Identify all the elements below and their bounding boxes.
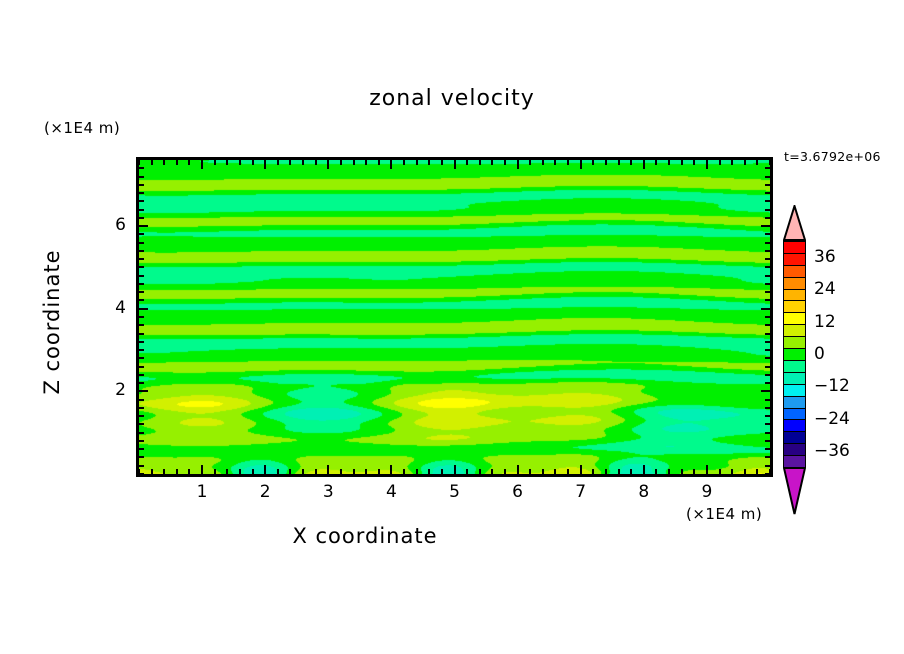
x-axis-tick <box>327 160 329 169</box>
x-axis-tick <box>226 469 228 474</box>
y-axis-tick <box>139 341 144 343</box>
y-axis-tick <box>139 217 144 219</box>
y-axis-tick <box>139 308 148 310</box>
x-axis-tick <box>416 160 418 165</box>
y-axis-tick <box>139 192 144 194</box>
x-axis-ticklabel: 2 <box>245 482 285 502</box>
x-axis-ticklabel: 6 <box>498 482 538 502</box>
x-axis-tick <box>681 160 683 165</box>
y-axis-tick <box>765 465 770 467</box>
x-axis-tick <box>239 469 241 474</box>
x-axis-tick <box>201 160 203 169</box>
y-axis-tick <box>765 242 770 244</box>
x-axis-tick <box>378 469 380 474</box>
y-axis-tick <box>761 390 770 392</box>
x-axis-tick <box>188 469 190 474</box>
y-axis-tick <box>765 407 770 409</box>
y-axis-tick <box>765 374 770 376</box>
x-axis-tick <box>479 469 481 474</box>
y-axis-tick <box>765 167 770 169</box>
y-axis-tick <box>139 258 144 260</box>
x-axis-title: X coordinate <box>0 524 730 548</box>
x-axis-tick <box>340 469 342 474</box>
y-axis-tick <box>139 242 144 244</box>
x-axis-tick <box>756 469 758 474</box>
x-axis-tick <box>668 160 670 165</box>
y-axis-tick <box>139 324 144 326</box>
y-axis-tick <box>765 217 770 219</box>
y-axis-tick <box>765 192 770 194</box>
colorbar-ticklabel: −36 <box>814 441 850 461</box>
colorbar[interactable] <box>783 241 806 467</box>
x-axis-tick <box>529 160 531 165</box>
y-axis-tick <box>765 432 770 434</box>
x-axis-tick <box>454 160 456 169</box>
y-axis-tick <box>765 209 770 211</box>
y-axis-tick <box>761 225 770 227</box>
x-axis-tick <box>706 465 708 474</box>
y-axis-tick <box>765 299 770 301</box>
x-axis-tick <box>504 469 506 474</box>
colorbar-ticklabel: 0 <box>814 344 825 364</box>
x-axis-tick <box>681 469 683 474</box>
y-axis-tick <box>761 308 770 310</box>
x-axis-tick <box>201 465 203 474</box>
x-axis-ticklabel: 4 <box>371 482 411 502</box>
x-axis-tick <box>655 469 657 474</box>
x-axis-tick <box>756 160 758 165</box>
y-axis-tick <box>765 258 770 260</box>
x-axis-ticklabel: 8 <box>624 482 664 502</box>
y-axis-tick <box>139 366 144 368</box>
x-axis-tick <box>252 160 254 165</box>
x-axis-tick <box>289 469 291 474</box>
x-axis-tick <box>605 160 607 165</box>
x-axis-tick <box>529 469 531 474</box>
x-axis-tick <box>580 465 582 474</box>
x-axis-tick <box>542 160 544 165</box>
colorbar-ticklabel: 24 <box>814 279 836 299</box>
y-axis-tick <box>139 167 144 169</box>
y-axis-ticklabel: 2 <box>86 380 126 400</box>
colorbar-ticklabel: 12 <box>814 312 836 332</box>
y-axis-tick <box>765 291 770 293</box>
x-axis-tick <box>353 469 355 474</box>
x-axis-tick <box>618 469 620 474</box>
y-axis-tick <box>765 473 770 475</box>
y-axis-tick <box>139 225 148 227</box>
x-axis-tick <box>554 469 556 474</box>
x-axis-tick <box>365 469 367 474</box>
x-axis-tick <box>340 160 342 165</box>
colorbar-ticklabel: 36 <box>814 247 836 267</box>
x-axis-ticklabel: 3 <box>308 482 348 502</box>
y-axis-tick <box>765 349 770 351</box>
x-axis-tick <box>441 160 443 165</box>
y-axis-tick <box>139 448 144 450</box>
y-axis-tick <box>139 382 144 384</box>
y-axis-tick <box>765 415 770 417</box>
y-axis-tick <box>139 456 144 458</box>
x-axis-tick <box>466 469 468 474</box>
x-axis-tick <box>365 160 367 165</box>
x-axis-tick <box>302 160 304 165</box>
x-axis-tick <box>214 469 216 474</box>
x-axis-tick <box>441 469 443 474</box>
x-axis-ticklabel: 1 <box>182 482 222 502</box>
x-axis-tick <box>592 469 594 474</box>
y-axis-tick <box>765 341 770 343</box>
page-title: zonal velocity <box>0 86 904 111</box>
x-axis-tick <box>567 160 569 165</box>
y-axis-tick <box>139 209 144 211</box>
x-axis-tick <box>630 469 632 474</box>
contour-plot-area[interactable] <box>136 157 773 477</box>
y-axis-tick <box>139 233 144 235</box>
x-axis-tick <box>416 469 418 474</box>
y-axis-tick <box>139 374 144 376</box>
x-axis-tick <box>517 160 519 169</box>
x-axis-tick <box>252 469 254 474</box>
x-axis-tick <box>353 160 355 165</box>
x-axis-tick <box>454 465 456 474</box>
y-axis-tick <box>139 299 144 301</box>
y-axis-tick <box>139 349 144 351</box>
x-axis-tick <box>277 469 279 474</box>
x-axis-tick <box>744 469 746 474</box>
colorbar-ticklabel: −12 <box>814 376 850 396</box>
x-axis-tick <box>517 465 519 474</box>
x-axis-tick <box>302 469 304 474</box>
x-axis-tick <box>151 160 153 165</box>
y-axis-tick <box>765 176 770 178</box>
x-axis-tick <box>744 160 746 165</box>
colorbar-ticklabel: −24 <box>814 409 850 429</box>
x-axis-tick <box>289 160 291 165</box>
x-axis-tick <box>719 469 721 474</box>
x-axis-tick <box>655 160 657 165</box>
x-axis-tick <box>188 160 190 165</box>
y-axis-tick <box>765 324 770 326</box>
x-axis-tick <box>403 469 405 474</box>
x-axis-tick <box>479 160 481 165</box>
x-axis-tick <box>138 160 140 165</box>
y-axis-tick <box>139 399 144 401</box>
y-axis-tick <box>765 382 770 384</box>
y-axis-tick <box>139 250 144 252</box>
y-axis-tick <box>139 176 144 178</box>
x-axis-tick <box>466 160 468 165</box>
y-axis-ticklabel: 6 <box>86 215 126 235</box>
x-axis-tick <box>580 160 582 169</box>
y-axis-tick <box>765 440 770 442</box>
x-axis-tick <box>163 160 165 165</box>
x-axis-tick <box>706 160 708 169</box>
y-axis-tick <box>139 432 144 434</box>
x-axis-tick <box>327 465 329 474</box>
x-axis-tick <box>491 160 493 165</box>
y-axis-tick <box>139 473 144 475</box>
y-axis-tick <box>765 423 770 425</box>
y-axis-tick <box>139 291 144 293</box>
y-axis-tick <box>139 357 144 359</box>
y-axis-tick <box>765 184 770 186</box>
y-axis-tick <box>139 283 144 285</box>
y-axis-tick <box>139 266 144 268</box>
x-axis-tick <box>769 160 771 165</box>
colorbar-cap-top <box>783 205 806 241</box>
x-axis-tick <box>567 469 569 474</box>
y-axis-tick <box>139 415 144 417</box>
x-axis-tick <box>542 469 544 474</box>
y-axis-title: Z coordinate <box>40 212 64 432</box>
x-axis-tick <box>378 160 380 165</box>
x-axis-tick <box>390 465 392 474</box>
x-axis-tick <box>176 469 178 474</box>
contour-field <box>139 160 770 474</box>
x-axis-tick <box>214 160 216 165</box>
x-axis-tick <box>226 160 228 165</box>
y-axis-tick <box>765 357 770 359</box>
y-axis-tick <box>765 366 770 368</box>
x-axis-tick <box>315 469 317 474</box>
x-axis-tick <box>643 465 645 474</box>
x-axis-tick <box>592 160 594 165</box>
x-axis-ticklabel: 5 <box>435 482 475 502</box>
x-axis-tick <box>731 469 733 474</box>
y-axis-tick <box>765 316 770 318</box>
y-axis-tick <box>139 200 144 202</box>
x-axis-tick <box>693 160 695 165</box>
x-axis-tick <box>554 160 556 165</box>
timestamp-label: t=3.6792e+06 <box>784 149 881 164</box>
y-axis-tick <box>139 316 144 318</box>
x-axis-tick <box>264 160 266 169</box>
x-axis-tick <box>668 469 670 474</box>
y-axis-tick <box>139 333 144 335</box>
x-axis-unit-label: (×1E4 m) <box>686 505 762 523</box>
y-axis-tick <box>765 399 770 401</box>
y-axis-tick <box>765 275 770 277</box>
x-axis-tick <box>239 160 241 165</box>
y-axis-tick <box>765 200 770 202</box>
y-axis-tick <box>765 456 770 458</box>
x-axis-tick <box>719 160 721 165</box>
y-axis-tick <box>765 250 770 252</box>
x-axis-tick <box>264 465 266 474</box>
x-axis-tick <box>315 160 317 165</box>
x-axis-tick <box>428 160 430 165</box>
x-axis-tick <box>151 469 153 474</box>
x-axis-tick <box>731 160 733 165</box>
x-axis-tick <box>176 160 178 165</box>
x-axis-tick <box>163 469 165 474</box>
y-axis-tick <box>765 233 770 235</box>
y-axis-unit-label: (×1E4 m) <box>44 119 120 137</box>
x-axis-tick <box>605 469 607 474</box>
y-axis-tick <box>139 390 148 392</box>
x-axis-tick <box>428 469 430 474</box>
y-axis-tick <box>139 423 144 425</box>
y-axis-tick <box>765 283 770 285</box>
x-axis-tick <box>403 160 405 165</box>
x-axis-tick <box>630 160 632 165</box>
y-axis-tick <box>139 440 144 442</box>
x-axis-tick <box>504 160 506 165</box>
x-axis-tick <box>277 160 279 165</box>
x-axis-tick <box>693 469 695 474</box>
y-axis-tick <box>139 275 144 277</box>
x-axis-ticklabel: 7 <box>561 482 601 502</box>
y-axis-tick <box>139 407 144 409</box>
y-axis-tick <box>765 266 770 268</box>
y-axis-tick <box>139 465 144 467</box>
x-axis-tick <box>618 160 620 165</box>
x-axis-tick <box>390 160 392 169</box>
y-axis-tick <box>765 333 770 335</box>
y-axis-tick <box>139 184 144 186</box>
x-axis-tick <box>491 469 493 474</box>
y-axis-tick <box>765 448 770 450</box>
x-axis-ticklabel: 9 <box>687 482 727 502</box>
x-axis-tick <box>643 160 645 169</box>
colorbar-cap-bottom <box>783 467 806 515</box>
y-axis-ticklabel: 4 <box>86 298 126 318</box>
